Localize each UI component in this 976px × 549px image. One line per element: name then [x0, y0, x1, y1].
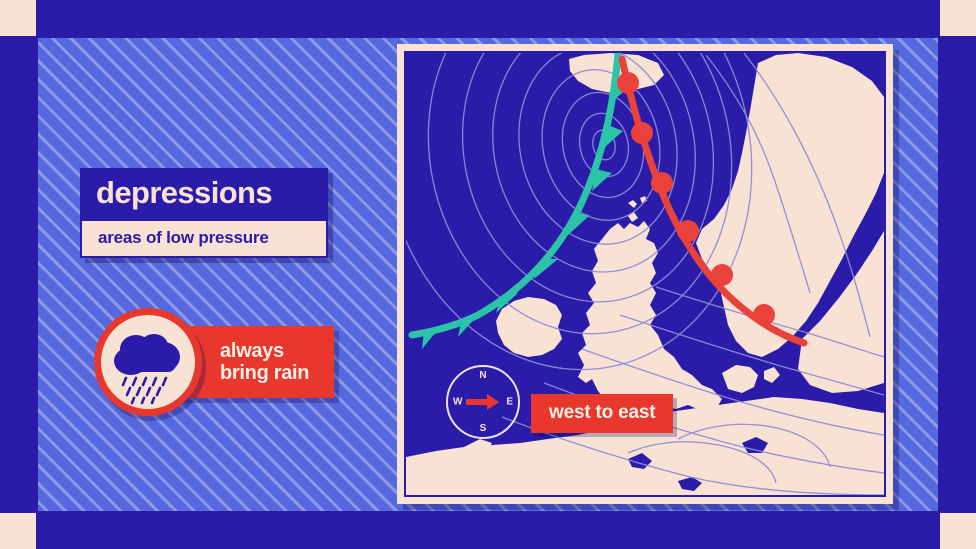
left-content-column: depressions areas of low pressure always…: [80, 168, 350, 258]
compass-label-east: E: [506, 397, 513, 408]
compass-rose: N S W E: [446, 365, 520, 439]
direction-banner-label: west to east: [549, 402, 655, 423]
compass-label-south: S: [480, 423, 487, 434]
corner-marker-top-right: [940, 0, 976, 36]
direction-banner: west to east: [531, 394, 673, 433]
subtitle-bar: areas of low pressure: [80, 221, 328, 258]
arrow-right-icon: [466, 394, 500, 410]
compass-label-north: N: [479, 370, 486, 381]
page-title: depressions: [96, 177, 312, 210]
weather-map-frame: N S W E west to east: [397, 44, 893, 504]
rain-cloud-icon: [101, 315, 195, 409]
corner-marker-bottom-left: [0, 513, 36, 549]
weather-map: N S W E west to east: [404, 51, 886, 497]
corner-marker-bottom-right: [940, 513, 976, 549]
title-bar: depressions: [80, 168, 328, 221]
rain-icon-badge: [94, 308, 202, 416]
title-block: depressions areas of low pressure: [80, 168, 328, 258]
corner-marker-top-left: [0, 0, 36, 36]
weather-infographic: depressions areas of low pressure always…: [0, 0, 976, 549]
page-subtitle: areas of low pressure: [98, 228, 310, 248]
rain-callout: always bring rain: [94, 308, 354, 418]
compass-label-west: W: [453, 397, 462, 408]
